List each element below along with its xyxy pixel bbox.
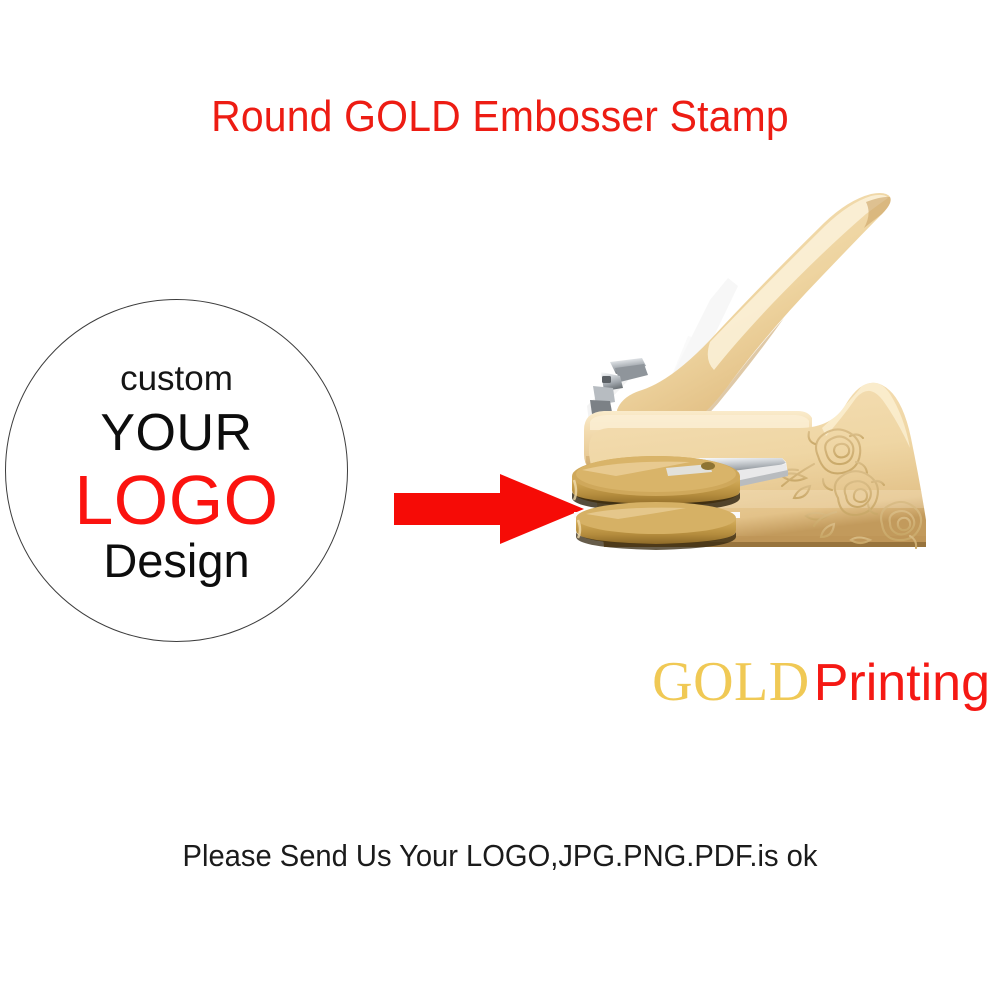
gold-label: GOLD: [652, 651, 810, 713]
logo-line-design: Design: [103, 537, 249, 584]
printing-label: Printing: [814, 654, 990, 712]
page-title: Round GOLD Embosser Stamp: [35, 92, 965, 142]
die-stack[interactable]: [572, 456, 740, 550]
logo-line-custom: custom: [120, 361, 233, 396]
handle-lever[interactable]: [617, 193, 891, 434]
send-logo-instruction: Please Send Us Your LOGO,JPG.PNG.PDF.is …: [30, 838, 970, 874]
gold-printing-caption: GOLDPrinting: [520, 654, 990, 710]
product-image-canvas: Round GOLD Embosser Stamp custom YOUR LO…: [0, 0, 1000, 1000]
logo-line-your: YOUR: [100, 407, 252, 459]
product-illustration-embosser: [560, 190, 980, 610]
right-arrow-icon: [394, 472, 584, 546]
logo-line-logo: LOGO: [74, 465, 278, 535]
round-logo-preview: custom YOUR LOGO Design: [5, 299, 348, 642]
logo-text-stack: custom YOUR LOGO Design: [6, 300, 347, 641]
